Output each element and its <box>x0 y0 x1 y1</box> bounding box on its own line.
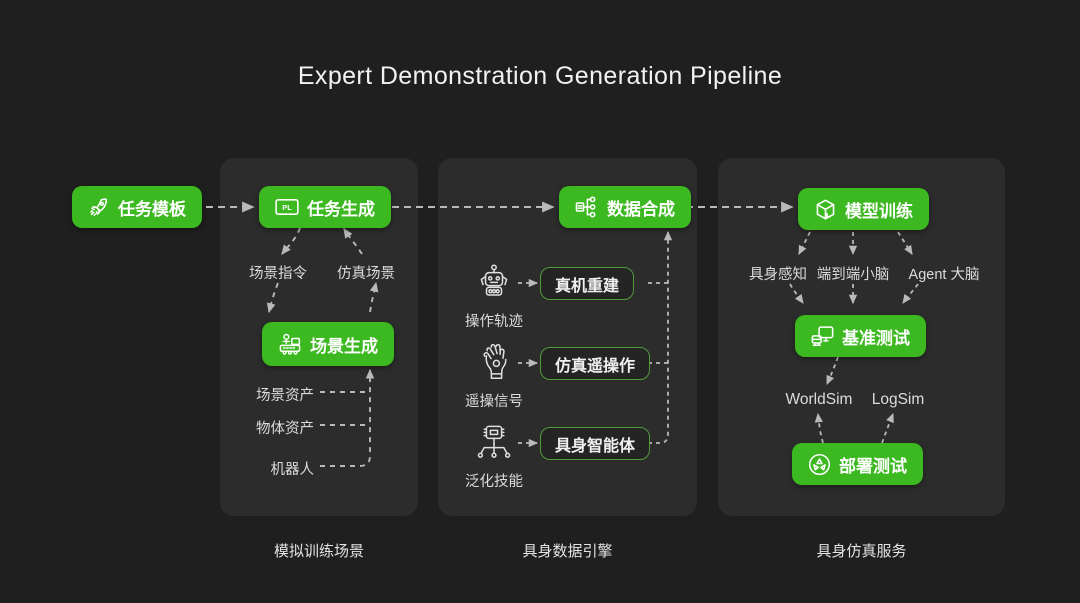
node-label: 真机重建 <box>555 272 619 296</box>
node-benchmark-test[interactable]: 基准测试 <box>795 315 926 357</box>
node-real-machine-reconstruction[interactable]: 真机重建 <box>540 267 634 300</box>
label-operation-trajectory: 操作轨迹 <box>465 310 523 331</box>
label-teleop-signal: 遥操信号 <box>465 390 523 411</box>
robot-head-icon <box>474 262 514 302</box>
node-label: 模型训练 <box>845 197 913 222</box>
panel-caption-2: 具身数据引擎 <box>438 540 697 561</box>
scene-robot-icon <box>278 333 302 355</box>
node-label: 任务模板 <box>118 195 186 220</box>
label-worldsim: WorldSim <box>786 391 853 409</box>
label-scene-assets: 场景资产 <box>256 384 314 405</box>
data-nodes-icon <box>575 196 599 218</box>
label-object-assets: 物体资产 <box>256 417 314 438</box>
label-generalization-skill: 泛化技能 <box>465 470 523 491</box>
node-label: 任务生成 <box>307 195 375 220</box>
node-deployment-test[interactable]: 部署测试 <box>792 443 923 485</box>
agent-chip-icon <box>474 422 514 462</box>
glove-hand-icon <box>474 342 514 382</box>
node-label: 基准测试 <box>842 324 910 349</box>
node-model-training[interactable]: 模型训练 <box>798 188 929 230</box>
label-scene-instruction: 场景指令 <box>249 262 307 283</box>
monitor-icon <box>811 325 834 347</box>
rocket-icon <box>88 196 110 218</box>
node-embodied-agent[interactable]: 具身智能体 <box>540 427 650 460</box>
node-label: 部署测试 <box>839 452 907 477</box>
label-end-to-end-cerebellum: 端到端小脑 <box>817 263 890 284</box>
node-label: 数据合成 <box>607 195 675 220</box>
pipeline-diagram: Expert Demonstration Generation Pipeline <box>0 0 1080 603</box>
label-robot: 机器人 <box>271 458 315 479</box>
node-label: 场景生成 <box>310 332 378 357</box>
label-embodied-perception: 具身感知 <box>749 263 807 284</box>
cube-loop-icon <box>814 198 837 221</box>
node-task-generation[interactable]: PL 任务生成 <box>259 186 391 228</box>
label-logsim: LogSim <box>872 391 925 409</box>
svg-text:PL: PL <box>282 203 292 212</box>
panel-caption-1: 模拟训练场景 <box>220 540 418 561</box>
label-sim-scene: 仿真场景 <box>337 262 395 283</box>
node-label: 具身智能体 <box>555 432 635 456</box>
recycle-circle-icon <box>808 453 831 476</box>
panel-pl-icon: PL <box>275 197 299 217</box>
node-task-template[interactable]: 任务模板 <box>72 186 202 228</box>
node-data-synthesis[interactable]: 数据合成 <box>559 186 691 228</box>
node-sim-teleoperation[interactable]: 仿真遥操作 <box>540 347 650 380</box>
label-agent-brain: Agent 大脑 <box>909 263 980 284</box>
panel-caption-3: 具身仿真服务 <box>718 540 1005 561</box>
node-label: 仿真遥操作 <box>555 352 635 376</box>
node-scene-generation[interactable]: 场景生成 <box>262 322 394 366</box>
page-title: Expert Demonstration Generation Pipeline <box>0 62 1080 91</box>
